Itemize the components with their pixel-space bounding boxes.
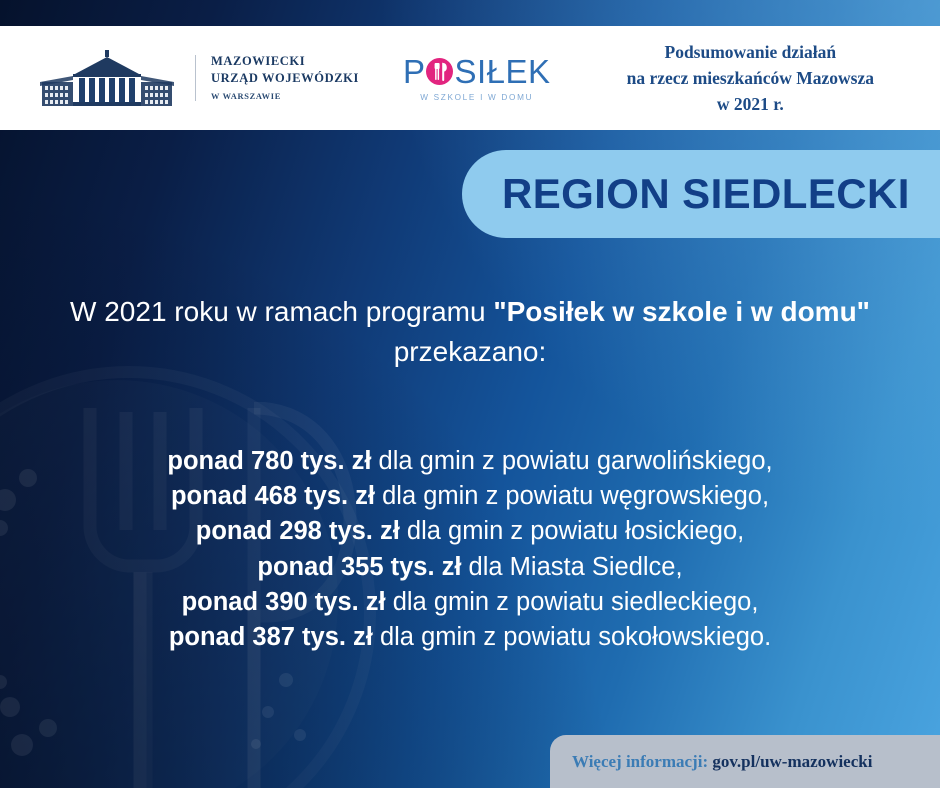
amount-recipient: dla Miasta Siedlce, bbox=[461, 553, 682, 581]
posilek-tagline: W SZKOLE I W DOMU bbox=[403, 93, 551, 102]
amount-recipient: dla gmin z powiatu sokołowskiego. bbox=[373, 623, 771, 651]
dot-decoration bbox=[294, 729, 306, 741]
org-line-3: W WARSZAWIE bbox=[211, 91, 359, 102]
amount-recipient: dla gmin z powiatu węgrowskiego, bbox=[375, 482, 769, 510]
amount-value: ponad 387 tys. zł bbox=[169, 623, 373, 651]
dot-decoration bbox=[0, 489, 16, 511]
dot-decoration bbox=[39, 719, 57, 737]
footer-url[interactable]: gov.pl/uw-mazowiecki bbox=[712, 752, 872, 771]
amount-value: ponad 390 tys. zł bbox=[182, 588, 386, 616]
dot-decoration bbox=[251, 739, 261, 749]
poster-canvas: MAZOWIECKI URZĄD WOJEWÓDZKI W WARSZAWIE … bbox=[0, 0, 940, 788]
posilek-wordmark: P SIŁEK bbox=[403, 55, 551, 88]
intro-prefix: W 2021 roku w ramach programu bbox=[70, 296, 493, 327]
region-banner: REGION SIEDLECKI bbox=[462, 150, 940, 238]
amount-line: ponad 355 tys. zł dla Miasta Siedlce, bbox=[40, 550, 900, 585]
amount-recipient: dla gmin z powiatu siedleckiego, bbox=[386, 588, 759, 616]
dot-decoration bbox=[262, 706, 274, 718]
dot-decoration bbox=[0, 520, 8, 536]
dot-decoration bbox=[0, 697, 20, 717]
amount-recipient: dla gmin z powiatu łosickiego, bbox=[400, 517, 744, 545]
region-title: REGION SIEDLECKI bbox=[502, 170, 910, 218]
amount-recipient: dla gmin z powiatu garwolińskiego, bbox=[371, 447, 772, 475]
footer-info-box: Więcej informacji: gov.pl/uw-mazowiecki bbox=[550, 735, 940, 788]
dot-decoration bbox=[19, 469, 37, 487]
amount-value: ponad 355 tys. zł bbox=[257, 553, 461, 581]
dot-decoration bbox=[279, 673, 293, 687]
amount-line: ponad 780 tys. zł dla gmin z powiatu gar… bbox=[40, 444, 900, 479]
logo-divider bbox=[195, 55, 196, 101]
intro-program-name: "Posiłek w szkole i w domu" bbox=[493, 296, 870, 327]
mazowiecki-logo: MAZOWIECKI URZĄD WOJEWÓDZKI W WARSZAWIE bbox=[32, 48, 359, 108]
dot-decoration bbox=[0, 675, 7, 689]
amount-line: ponad 387 tys. zł dla gmin z powiatu sok… bbox=[40, 620, 900, 655]
posilek-letters-rest: SIŁEK bbox=[454, 55, 550, 88]
amounts-list: ponad 780 tys. zł dla gmin z powiatu gar… bbox=[40, 444, 900, 655]
header-title: Podsumowanie działań na rzecz mieszkańcó… bbox=[627, 39, 874, 118]
bowl-fork-spoon-icon bbox=[426, 58, 453, 85]
header-band: MAZOWIECKI URZĄD WOJEWÓDZKI W WARSZAWIE … bbox=[0, 26, 940, 130]
amount-line: ponad 390 tys. zł dla gmin z powiatu sie… bbox=[40, 585, 900, 620]
amount-line: ponad 298 tys. zł dla gmin z powiatu łos… bbox=[40, 514, 900, 549]
amount-value: ponad 468 tys. zł bbox=[171, 482, 375, 510]
intro-suffix: przekazano: bbox=[394, 336, 547, 367]
posilek-logo: P SIŁEK W SZKOLE I W DOMU bbox=[403, 55, 551, 102]
government-building-icon bbox=[32, 48, 182, 108]
amount-line: ponad 468 tys. zł dla gmin z powiatu węg… bbox=[40, 479, 900, 514]
amount-value: ponad 298 tys. zł bbox=[196, 517, 400, 545]
dot-decoration bbox=[11, 734, 33, 756]
posilek-letter-p: P bbox=[403, 55, 426, 88]
mazowiecki-logo-text: MAZOWIECKI URZĄD WOJEWÓDZKI W WARSZAWIE bbox=[211, 53, 359, 102]
org-line-2: URZĄD WOJEWÓDZKI bbox=[211, 70, 359, 87]
footer-text: Więcej informacji: gov.pl/uw-mazowiecki bbox=[572, 752, 872, 772]
amount-value: ponad 780 tys. zł bbox=[167, 447, 371, 475]
org-line-1: MAZOWIECKI bbox=[211, 53, 359, 70]
footer-label: Więcej informacji: bbox=[572, 752, 708, 771]
intro-text: W 2021 roku w ramach programu "Posiłek w… bbox=[40, 292, 900, 372]
